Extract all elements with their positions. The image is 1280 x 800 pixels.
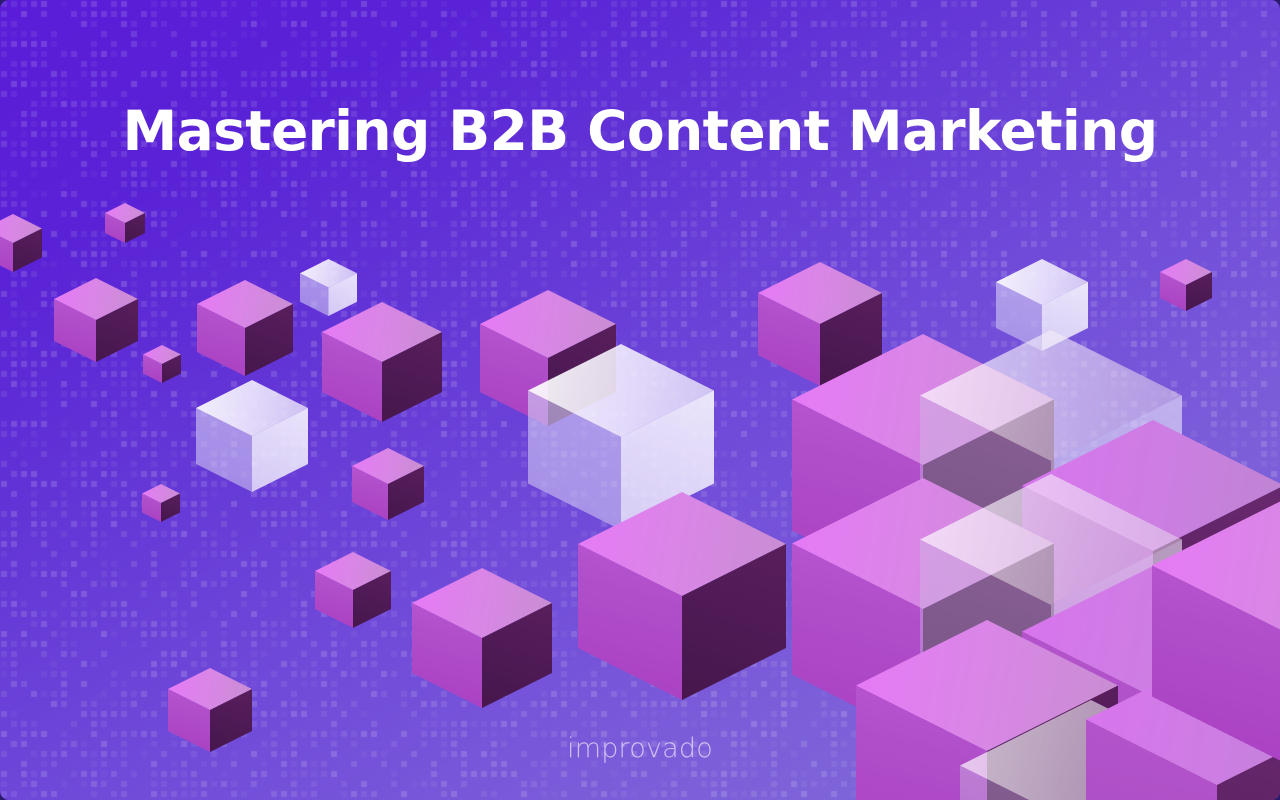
cube-tiny-left-c [142, 484, 180, 522]
improvado-logo: improvado [0, 733, 1280, 764]
cube-tiny-far-right [1160, 259, 1212, 311]
cube-edge-left-top [0, 214, 42, 272]
cube-med-lower-left [412, 568, 552, 708]
cube-med-upper-mid [322, 302, 442, 422]
cube-med-left [197, 280, 293, 376]
cube-stack-g [1152, 500, 1280, 762]
cube-large-lower-ctr [578, 492, 786, 700]
cube-med-mid [352, 448, 424, 520]
cube-tiny-upper-left [105, 203, 145, 243]
cube-small-mid-left [315, 552, 391, 628]
cube-tiny-left-b [143, 345, 181, 383]
marketing-banner: Mastering B2B Content Marketing improvad… [0, 0, 1280, 800]
page-title: Mastering B2B Content Marketing [0, 101, 1280, 163]
cube-glass-left [196, 380, 308, 492]
cube-small-left-a [54, 278, 138, 362]
